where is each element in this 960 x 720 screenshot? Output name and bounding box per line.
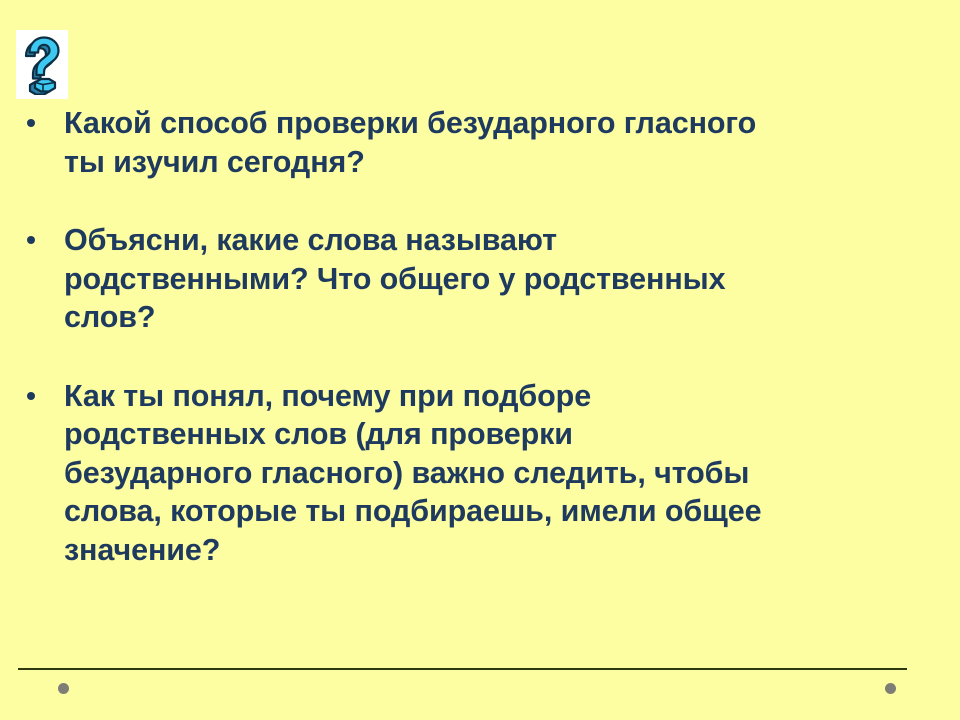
slide-canvas: Какой способ проверки безударного гласно… <box>0 0 960 720</box>
footer-dot-right-icon <box>885 683 896 694</box>
bullet-marker-icon <box>20 221 64 259</box>
bullet-text: Какой способ проверки безударного гласно… <box>64 104 940 181</box>
bullet-marker-icon <box>20 377 64 415</box>
bullet-marker-icon <box>20 104 64 142</box>
list-item: Какой способ проверки безударного гласно… <box>20 104 940 181</box>
list-item: Объясни, какие слова называют родственны… <box>20 221 940 337</box>
bullet-text: Как ты понял, почему при подборе родстве… <box>64 377 940 570</box>
bullet-text: Объясни, какие слова называют родственны… <box>64 221 940 337</box>
question-mark-image <box>16 30 68 99</box>
footer-divider <box>18 668 907 670</box>
bullet-list: Какой способ проверки безударного гласно… <box>20 104 940 569</box>
footer-dot-left-icon <box>58 683 69 694</box>
question-mark-icon <box>20 35 64 95</box>
list-item: Как ты понял, почему при подборе родстве… <box>20 377 940 570</box>
